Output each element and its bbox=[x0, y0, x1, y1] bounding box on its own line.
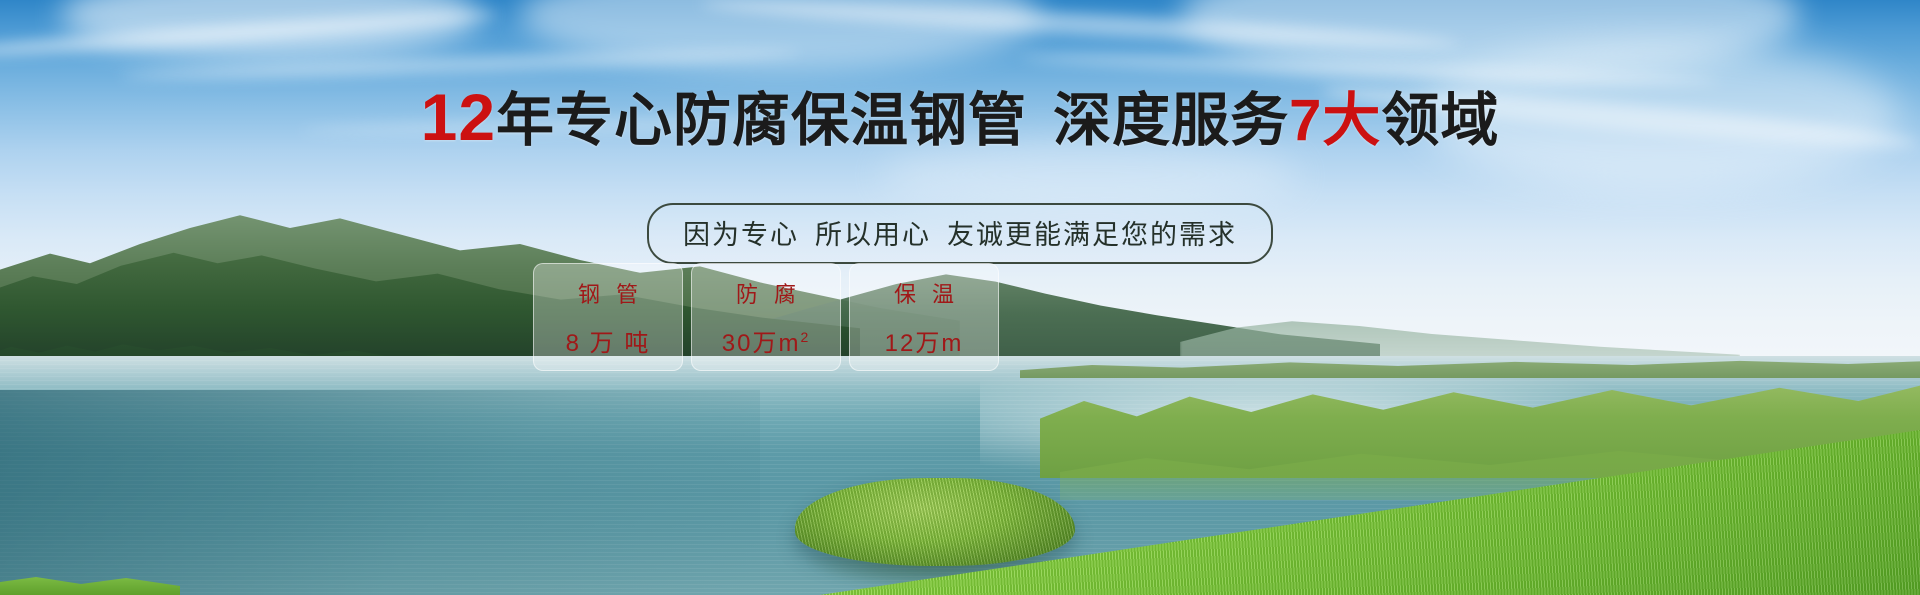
stat-card-label: 钢 管 bbox=[573, 277, 643, 309]
grass-island-texture bbox=[795, 478, 1075, 566]
stat-card-steel-pipe[interactable]: 钢 管 8 万 吨 bbox=[533, 263, 683, 371]
stat-card-unit-sup: 2 bbox=[800, 329, 810, 345]
page-title: 12年专心防腐保温钢管深度服务7大领域 bbox=[0, 84, 1920, 150]
headline-domains-number: 7大 bbox=[1289, 88, 1381, 153]
hero-banner: 12年专心防腐保温钢管深度服务7大领域 因为专心所以用心友诚更能满足您的需求 钢… bbox=[0, 0, 1920, 595]
headline-part3: 领域 bbox=[1381, 88, 1499, 153]
stat-card-label: 防 腐 bbox=[731, 277, 801, 309]
subtitle-seg-1: 因为专心 bbox=[683, 220, 799, 250]
stat-card-label: 保 温 bbox=[889, 277, 959, 309]
stat-card-insulation[interactable]: 保 温 12万m bbox=[849, 263, 999, 371]
subtitle-seg-3: 友诚更能满足您的需求 bbox=[947, 220, 1237, 250]
stat-card-anticorrosion[interactable]: 防 腐 30万m2 bbox=[691, 263, 841, 371]
stat-card-value: 8 万 吨 bbox=[566, 323, 651, 358]
headline-years-number: 12 bbox=[421, 80, 496, 154]
headline-part1: 年专心防腐保温钢管 bbox=[496, 88, 1027, 153]
stat-card-value: 12万m bbox=[885, 323, 964, 358]
subtitle-seg-2: 所以用心 bbox=[815, 220, 931, 250]
subtitle-pill: 因为专心所以用心友诚更能满足您的需求 bbox=[647, 203, 1273, 264]
stat-card-value: 30万m2 bbox=[722, 323, 810, 358]
headline-part2: 深度服务 bbox=[1053, 88, 1289, 153]
water-deep-area bbox=[0, 390, 760, 595]
stat-card-list: 钢 管 8 万 吨 防 腐 30万m2 保 温 12万m bbox=[533, 263, 999, 371]
